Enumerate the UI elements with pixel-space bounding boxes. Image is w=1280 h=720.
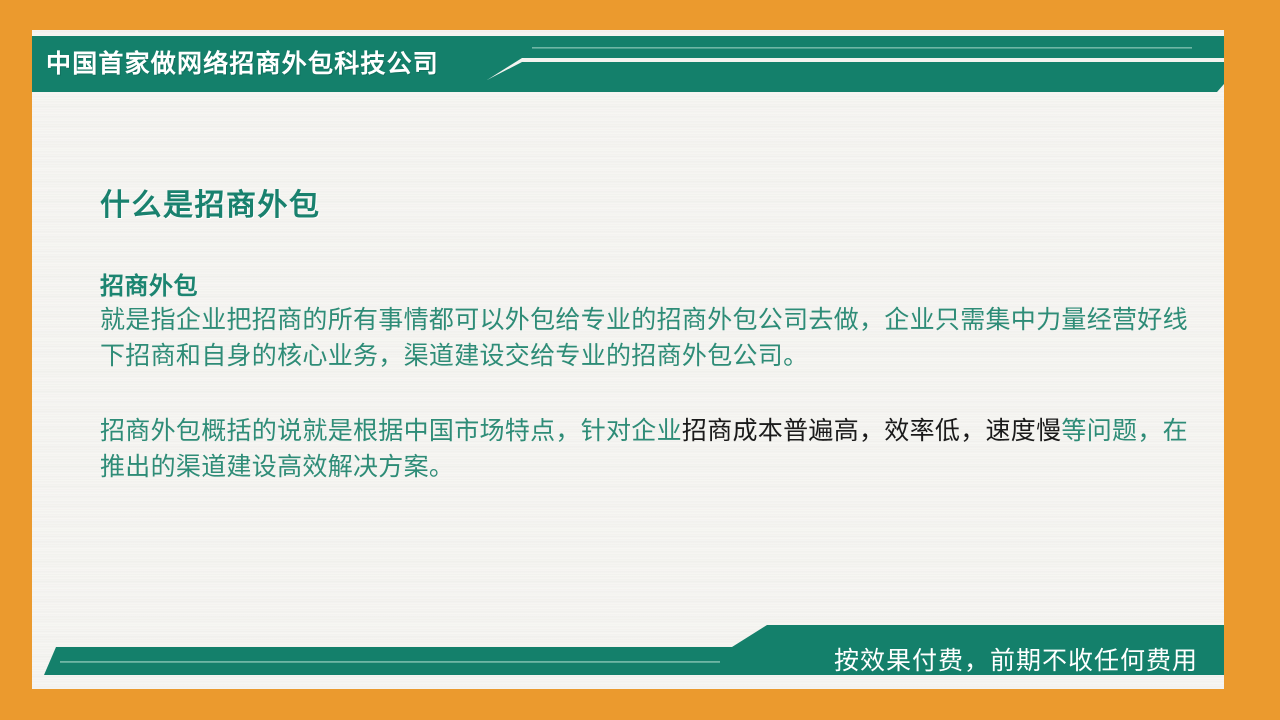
summary-text-green-lead: 招商外包概括的说就是根据中国市场特点，针对企业 — [100, 417, 682, 445]
lead-label: 招商外包 — [100, 266, 1200, 301]
slide-content: 什么是招商外包 招商外包 就是指企业把招商的所有事情都可以外包给专业的招商外包公… — [100, 180, 1200, 485]
footer-banner: 按效果付费，前期不收任何费用 — [32, 617, 1224, 689]
footer-accent-line — [60, 661, 720, 663]
header-title: 中国首家做网络招商外包科技公司 — [46, 42, 486, 82]
slide-paper-panel: 中国首家做网络招商外包科技公司 什么是招商外包 招商外包 就是指企业把招商的所有… — [32, 30, 1224, 689]
header-accent-line — [532, 47, 1192, 49]
footer-tagline: 按效果付费，前期不收任何费用 — [834, 641, 1198, 677]
page-title: 什么是招商外包 — [100, 180, 1200, 224]
slide-canvas: 中国首家做网络招商外包科技公司 什么是招商外包 招商外包 就是指企业把招商的所有… — [0, 0, 1280, 720]
paragraph-summary: 招商外包概括的说就是根据中国市场特点，针对企业招商成本普遍高，效率低，速度慢等问… — [100, 414, 1200, 485]
header-banner: 中国首家做网络招商外包科技公司 — [32, 30, 1224, 98]
summary-text-highlight: 招商成本普遍高，效率低，速度慢 — [682, 417, 1062, 445]
header-shape-gap — [524, 58, 1224, 62]
paragraph-definition: 就是指企业把招商的所有事情都可以外包给专业的招商外包公司去做，企业只需集中力量经… — [100, 303, 1200, 374]
